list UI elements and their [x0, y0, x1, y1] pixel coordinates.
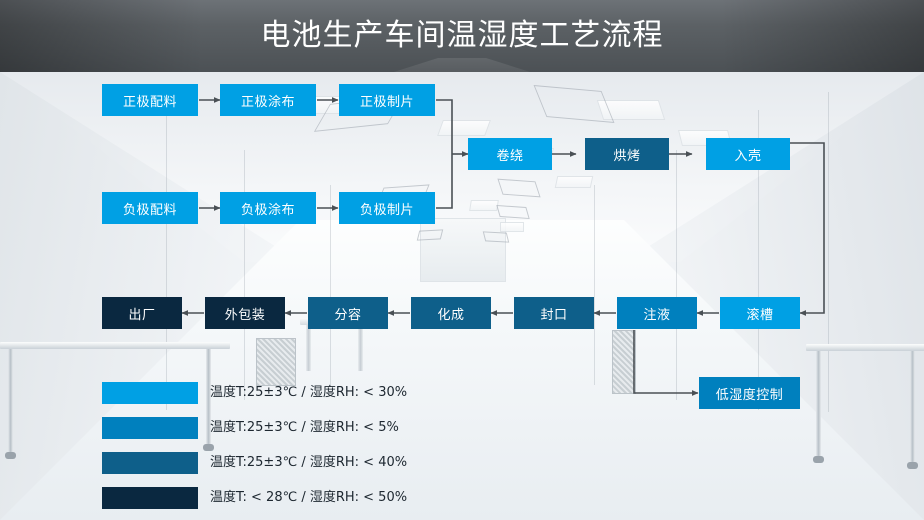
legend-swatch-level2 — [102, 417, 198, 439]
node-label: 低湿度控制 — [716, 384, 784, 403]
node-electrolyte-filling[interactable]: 注液 — [617, 297, 697, 329]
node-sealing[interactable]: 封口 — [514, 297, 594, 329]
page-title: 电池生产车间温湿度工艺流程 — [0, 0, 924, 72]
node-label: 正极制片 — [360, 91, 414, 110]
node-winding[interactable]: 卷绕 — [468, 138, 552, 170]
legend-item: 温度T:25±3℃ / 湿度RH: < 5% — [102, 417, 522, 452]
legend: 温度T:25±3℃ / 湿度RH: < 30% 温度T:25±3℃ / 湿度RH… — [102, 382, 522, 520]
node-label: 外包装 — [225, 304, 266, 323]
legend-label: 温度T:25±3℃ / 湿度RH: < 5% — [210, 417, 399, 439]
legend-item: 温度T:25±3℃ / 湿度RH: < 40% — [102, 452, 522, 487]
node-label: 化成 — [437, 304, 464, 323]
node-cathode-sheeting[interactable]: 正极制片 — [339, 84, 435, 116]
legend-swatch-level3 — [102, 452, 198, 474]
node-label: 注液 — [643, 304, 670, 323]
node-anode-coating[interactable]: 负极涂布 — [220, 192, 316, 224]
legend-swatch-level1 — [102, 382, 198, 404]
node-label: 分容 — [334, 304, 361, 323]
legend-label: 温度T:25±3℃ / 湿度RH: < 40% — [210, 452, 407, 474]
node-label: 正极配料 — [123, 91, 177, 110]
node-formation[interactable]: 化成 — [411, 297, 491, 329]
title-bar: 电池生产车间温湿度工艺流程 — [0, 0, 924, 72]
node-label: 正极涂布 — [241, 91, 295, 110]
node-grading[interactable]: 分容 — [308, 297, 388, 329]
node-cathode-coating[interactable]: 正极涂布 — [220, 84, 316, 116]
bench-right — [806, 344, 924, 474]
node-label: 负极配料 — [123, 199, 177, 218]
node-label: 卷绕 — [496, 145, 523, 164]
node-cathode-mixing[interactable]: 正极配料 — [102, 84, 198, 116]
legend-swatch-level4 — [102, 487, 198, 509]
node-shipping[interactable]: 出厂 — [102, 297, 182, 329]
node-label: 入壳 — [734, 145, 761, 164]
node-anode-mixing[interactable]: 负极配料 — [102, 192, 198, 224]
node-anode-sheeting[interactable]: 负极制片 — [339, 192, 435, 224]
node-outer-packing[interactable]: 外包装 — [205, 297, 285, 329]
node-label: 烘烤 — [613, 145, 640, 164]
node-label: 负极制片 — [360, 199, 414, 218]
node-label: 出厂 — [128, 304, 155, 323]
node-baking[interactable]: 烘烤 — [585, 138, 669, 170]
node-label: 封口 — [540, 304, 567, 323]
legend-item: 温度T:25±3℃ / 湿度RH: < 30% — [102, 382, 522, 417]
node-grooving[interactable]: 滚槽 — [720, 297, 800, 329]
legend-label: 温度T:25±3℃ / 湿度RH: < 30% — [210, 382, 407, 404]
legend-label: 温度T: < 28℃ / 湿度RH: < 50% — [210, 487, 407, 509]
legend-item: 温度T: < 28℃ / 湿度RH: < 50% — [102, 487, 522, 520]
node-low-humidity-control[interactable]: 低湿度控制 — [699, 377, 800, 409]
node-label: 负极涂布 — [241, 199, 295, 218]
node-casing[interactable]: 入壳 — [706, 138, 790, 170]
node-label: 滚槽 — [746, 304, 773, 323]
slide-canvas: 电池生产车间温湿度工艺流程 — [0, 0, 924, 520]
